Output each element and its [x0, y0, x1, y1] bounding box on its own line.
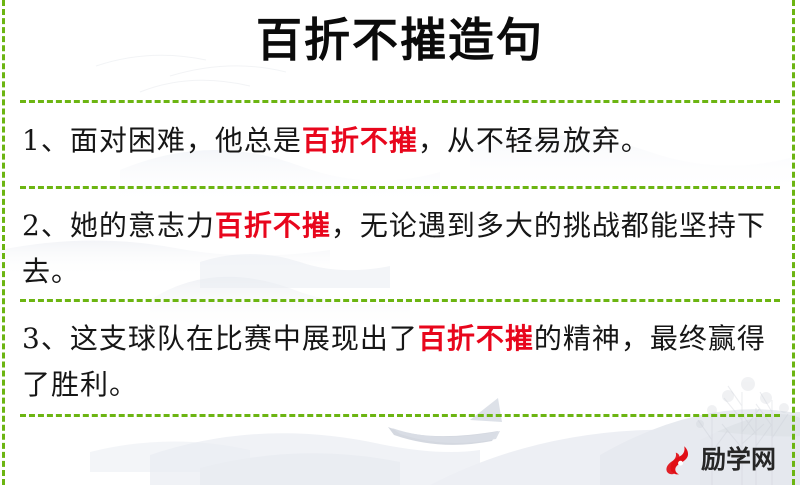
sentence-1-pre: 面对困难，他总是 — [70, 124, 302, 157]
divider-1 — [20, 186, 780, 189]
site-watermark: 励学网 — [663, 443, 776, 477]
sentence-1-index: 1、 — [22, 124, 70, 157]
sentence-2-highlight: 百折不摧 — [215, 209, 331, 242]
sentence-2-pre: 她的意志力 — [70, 209, 215, 242]
divider-2 — [20, 299, 780, 302]
sentence-3-highlight: 百折不摧 — [418, 322, 534, 355]
sentence-2-index: 2、 — [22, 209, 70, 242]
lixuewang-logo-icon — [663, 443, 697, 477]
watermark-text: 励学网 — [701, 445, 776, 475]
sentence-1-post: ，从不轻易放弃。 — [418, 124, 650, 157]
example-sentence-3: 3、这支球队在比赛中展现出了百折不摧的精神，最终赢得了胜利。 — [22, 316, 778, 408]
example-sentence-1: 1、面对困难，他总是百折不摧，从不轻易放弃。 — [22, 118, 778, 164]
frame-dashed-left — [2, 0, 5, 485]
frame-dashed-right — [792, 0, 795, 485]
divider-bottom — [20, 414, 780, 417]
sentence-3-index: 3、 — [22, 322, 70, 355]
sentence-1-highlight: 百折不摧 — [302, 124, 418, 157]
page-root: 百折不摧造句 1、面对困难，他总是百折不摧，从不轻易放弃。 2、她的意志力百折不… — [0, 0, 800, 485]
divider-top — [20, 100, 780, 103]
sentence-3-pre: 这支球队在比赛中展现出了 — [70, 322, 418, 355]
page-title: 百折不摧造句 — [0, 12, 800, 70]
example-sentence-2: 2、她的意志力百折不摧，无论遇到多大的挑战都能坚持下去。 — [22, 203, 778, 295]
